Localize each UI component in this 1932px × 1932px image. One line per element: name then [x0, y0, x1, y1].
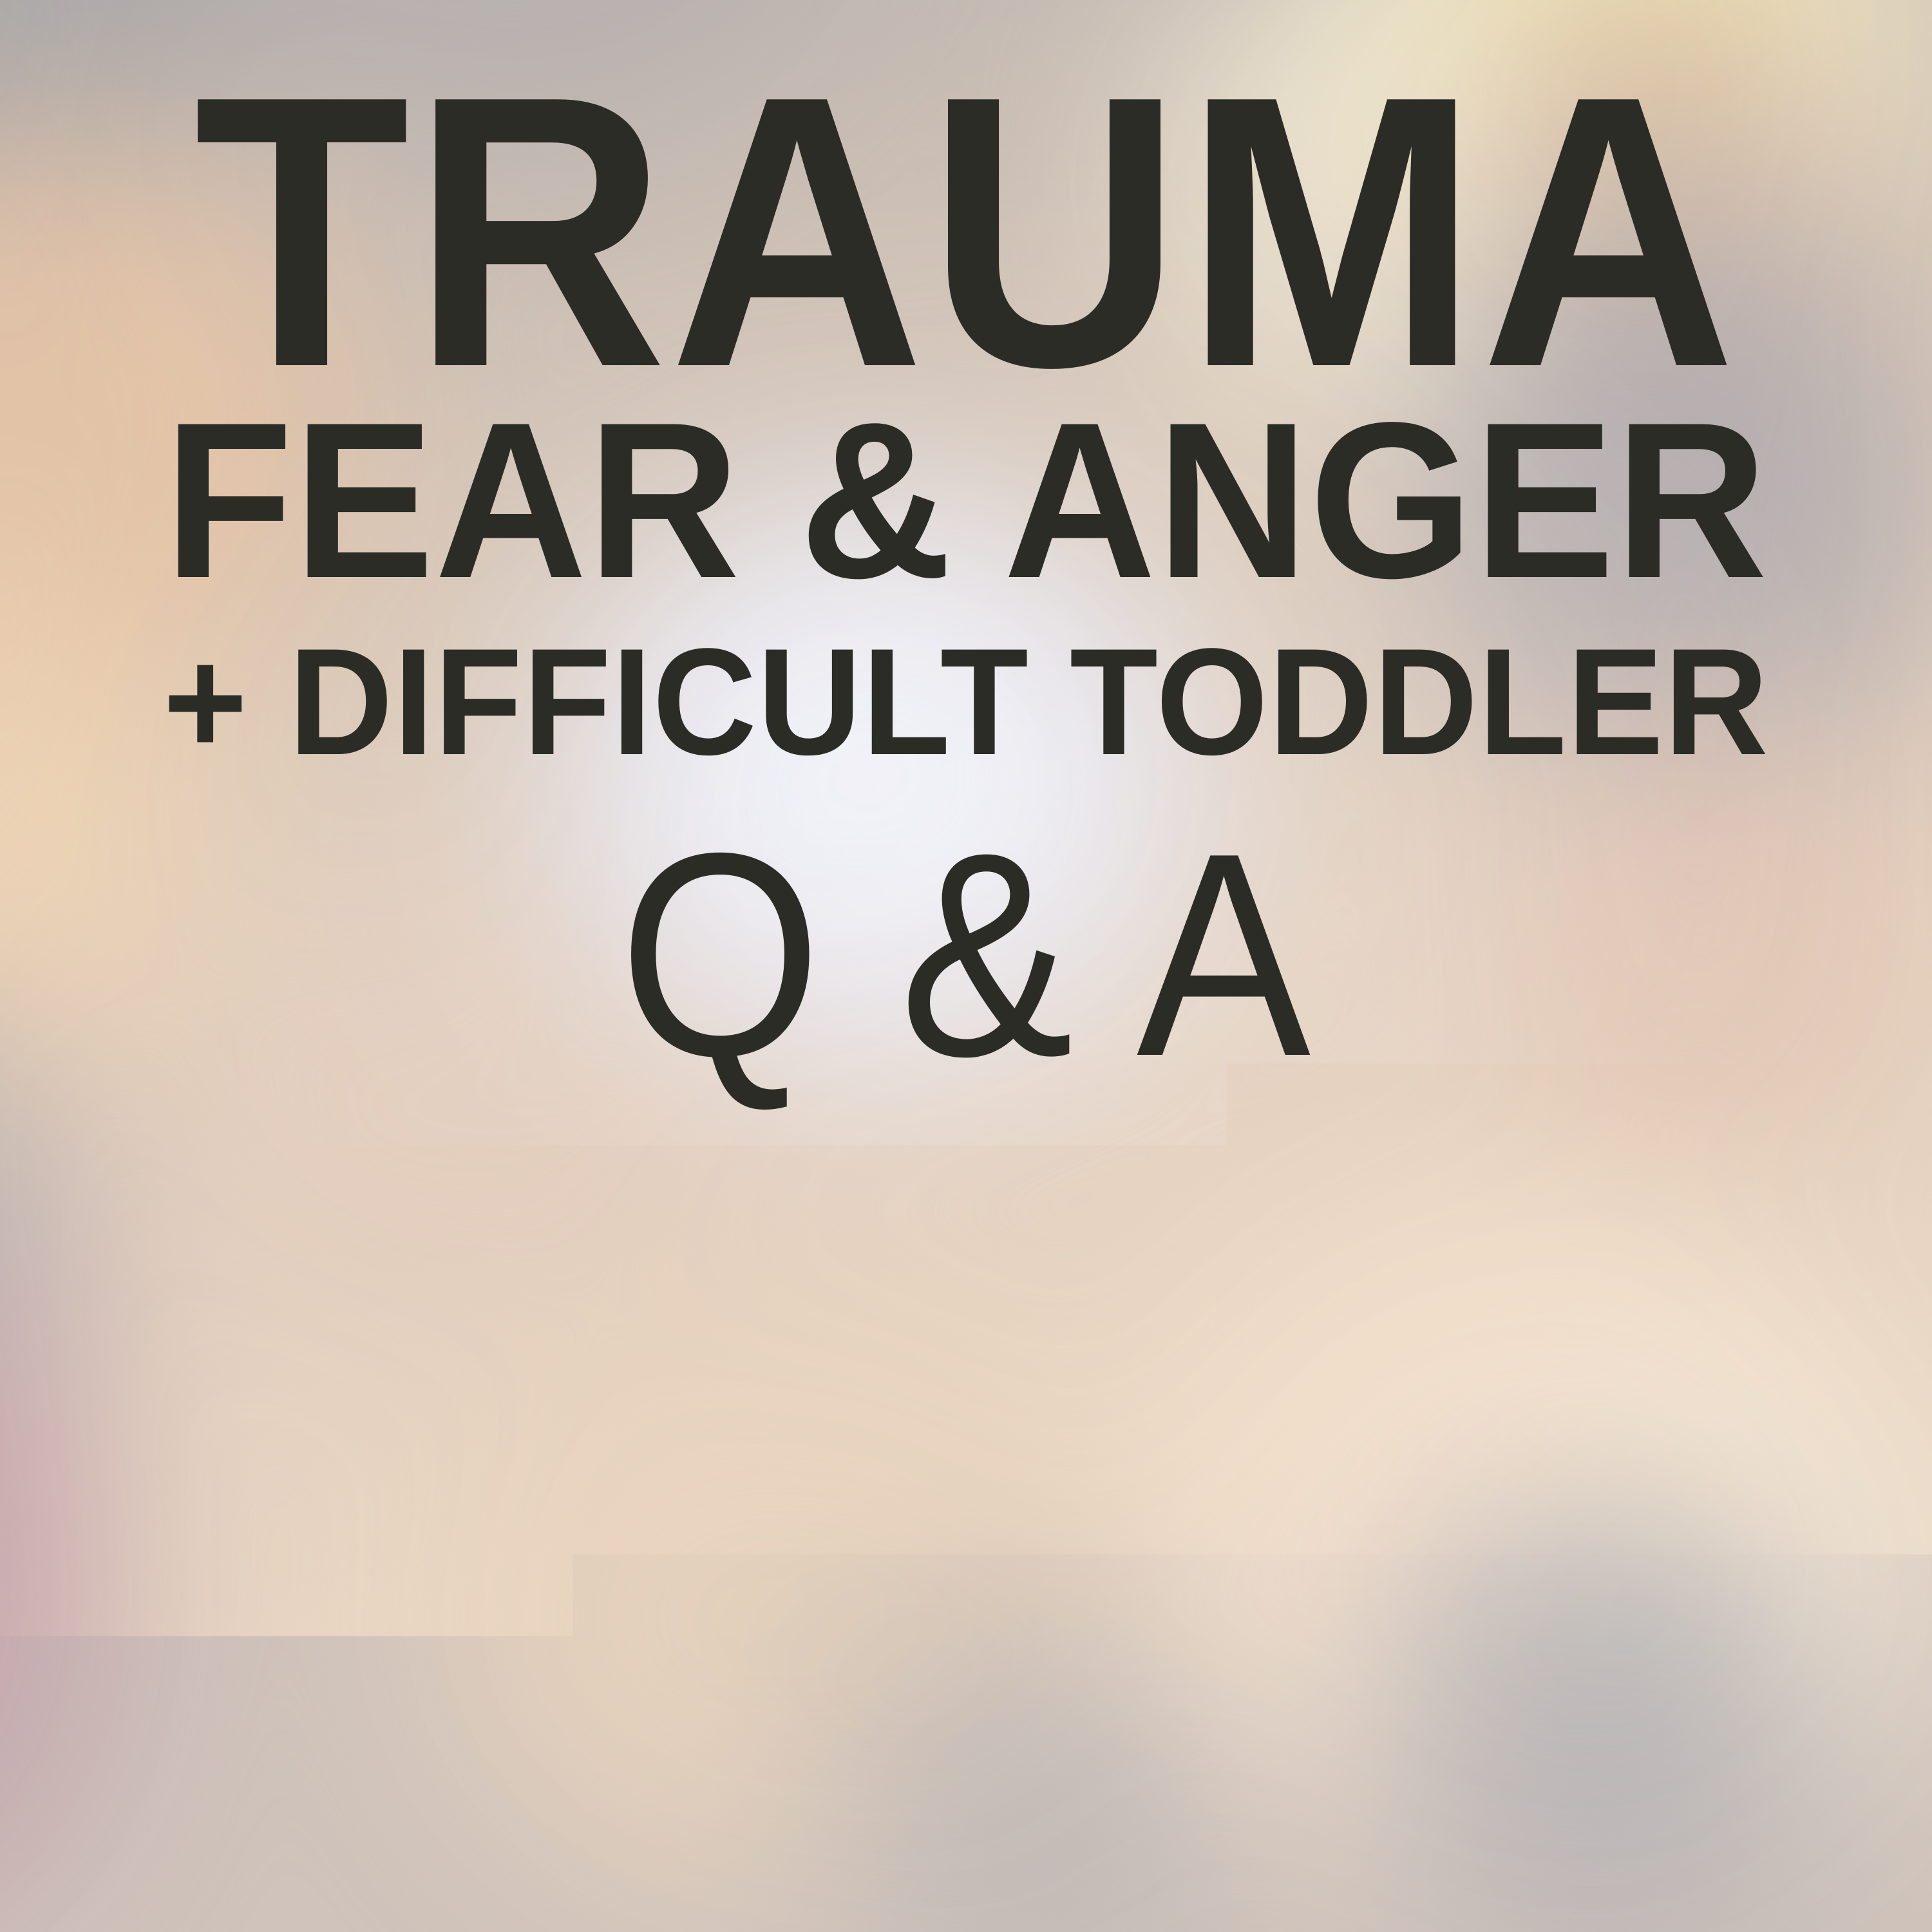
session-badge-label: SESSION 1: [498, 1491, 1459, 1684]
headline-line-trauma: TRAUMA: [82, 39, 1850, 425]
headline-line-fear-and-anger: FEAR & ANGER: [48, 390, 1884, 612]
session-badge: SESSION 1: [425, 1402, 1533, 1777]
cover-content: TRAUMA FEAR & ANGER + DIFFICULT TODDLER …: [0, 0, 1932, 1932]
presenter-script-line: with Odille: [0, 1199, 1932, 1363]
cover-canvas: TRAUMA FEAR & ANGER + DIFFICULT TODDLER …: [0, 0, 1932, 1932]
headline-line-difficult-toddler: + DIFFICULT TODDLER: [48, 626, 1884, 778]
brand-footer: The Remmert Method: [97, 1847, 1835, 1914]
headline-line-q-and-a: Q & A: [97, 810, 1835, 1100]
